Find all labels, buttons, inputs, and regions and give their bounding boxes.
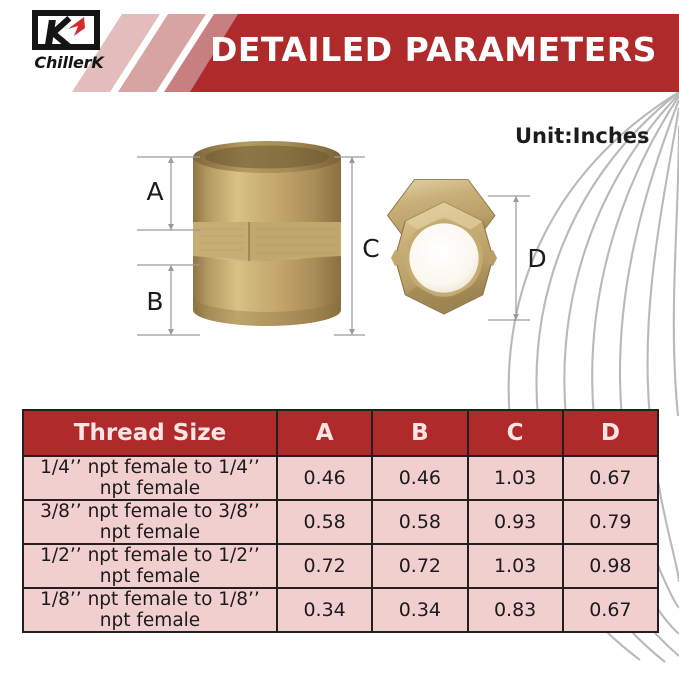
- chillerk-k-logo-icon: [32, 10, 100, 50]
- page-header: ChillerK DETAILED PARAMETERS: [0, 0, 679, 100]
- cell-a: 0.46: [277, 456, 372, 500]
- cell-b: 0.58: [372, 500, 467, 544]
- dimension-label-a: A: [146, 177, 163, 206]
- cell-b: 0.72: [372, 544, 467, 588]
- cell-b: 0.46: [372, 456, 467, 500]
- page-title: DETAILED PARAMETERS: [210, 30, 657, 69]
- dimension-label-c: C: [362, 234, 379, 263]
- column-header-c: C: [468, 410, 563, 456]
- cell-thread-size: 1/2’’ npt female to 1/2’’ npt female: [23, 544, 277, 588]
- unit-label: Unit:Inches: [515, 124, 650, 148]
- dimension-label-b: B: [146, 287, 163, 316]
- specification-table: Thread Size A B C D 1/4’’ npt female to …: [22, 409, 659, 633]
- cell-thread-size: 1/4’’ npt female to 1/4’’ npt female: [23, 456, 277, 500]
- cell-d: 0.67: [563, 588, 658, 632]
- product-dimension-figure: A B C D: [0, 110, 679, 385]
- cell-a: 0.58: [277, 500, 372, 544]
- cell-thread-size: 1/8’’ npt female to 1/8’’ npt female: [23, 588, 277, 632]
- table-row: 1/2’’ npt female to 1/2’’ npt female 0.7…: [23, 544, 658, 588]
- table-row: 3/8’’ npt female to 3/8’’ npt female 0.5…: [23, 500, 658, 544]
- cell-d: 0.98: [563, 544, 658, 588]
- table-header-row: Thread Size A B C D: [23, 410, 658, 456]
- cell-c: 0.83: [468, 588, 563, 632]
- column-header-thread-size: Thread Size: [23, 410, 277, 456]
- cell-b: 0.34: [372, 588, 467, 632]
- cell-a: 0.34: [277, 588, 372, 632]
- column-header-a: A: [277, 410, 372, 456]
- brand-name: ChillerK: [26, 53, 112, 72]
- cell-c: 1.03: [468, 544, 563, 588]
- column-header-b: B: [372, 410, 467, 456]
- cell-c: 0.93: [468, 500, 563, 544]
- table-row: 1/4’’ npt female to 1/4’’ npt female 0.4…: [23, 456, 658, 500]
- cell-d: 0.67: [563, 456, 658, 500]
- cell-a: 0.72: [277, 544, 372, 588]
- dimension-label-d: D: [527, 244, 546, 273]
- column-header-d: D: [563, 410, 658, 456]
- red-flame-icon: [65, 17, 85, 37]
- brass-hexnut-illustration: [388, 180, 498, 315]
- brass-coupling-illustration: [193, 141, 341, 326]
- cell-thread-size: 3/8’’ npt female to 3/8’’ npt female: [23, 500, 277, 544]
- table-row: 1/8’’ npt female to 1/8’’ npt female 0.3…: [23, 588, 658, 632]
- brand-logo[interactable]: ChillerK: [26, 10, 112, 72]
- cell-d: 0.79: [563, 500, 658, 544]
- cell-c: 1.03: [468, 456, 563, 500]
